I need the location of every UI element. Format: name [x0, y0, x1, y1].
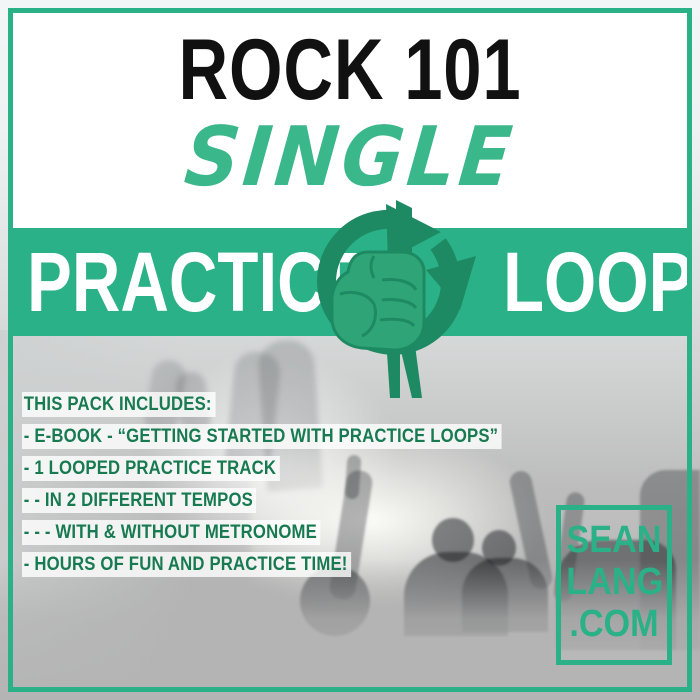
- includes-list: THIS PACK INCLUDES: - E-BOOK - “GETTING …: [22, 392, 542, 584]
- list-item-text: - HOURS OF FUN AND PRACTICE TIME!: [22, 552, 351, 577]
- logo-line-sean: SEAN: [566, 520, 661, 560]
- list-item: - - - WITH & WITHOUT METRONOME: [22, 520, 542, 545]
- list-item-text: - - - WITH & WITHOUT METRONOME: [22, 520, 320, 545]
- list-item: - - IN 2 DIFFERENT TEMPOS: [22, 488, 542, 513]
- list-item-text: - - IN 2 DIFFERENT TEMPOS: [22, 488, 256, 513]
- page-title: ROCK 101: [80, 27, 619, 113]
- header-panel: ROCK 101 SINGLE: [13, 13, 687, 228]
- logo-line-dotcom: .COM: [566, 604, 661, 644]
- poster-artwork: ROCK 101 SINGLE PRACTICE LOOPS: [0, 0, 700, 700]
- loop-arrow-with-fist-holding-drumstick-icon: [300, 198, 490, 403]
- list-heading-text: THIS PACK INCLUDES:: [22, 392, 215, 417]
- band-word-loops: LOOPS: [503, 236, 687, 328]
- list-item: - E-BOOK - “GETTING STARTED WITH PRACTIC…: [22, 424, 542, 449]
- list-item: - HOURS OF FUN AND PRACTICE TIME!: [22, 552, 542, 577]
- brand-logo: SEAN LANG .COM: [556, 505, 672, 665]
- list-item-text: - E-BOOK - “GETTING STARTED WITH PRACTIC…: [22, 424, 502, 449]
- list-item-text: - 1 LOOPED PRACTICE TRACK: [22, 456, 280, 481]
- subtitle-script: SINGLE: [36, 117, 664, 199]
- list-item: - 1 LOOPED PRACTICE TRACK: [22, 456, 542, 481]
- logo-line-lang: LANG: [566, 562, 661, 602]
- list-heading: THIS PACK INCLUDES:: [22, 392, 542, 417]
